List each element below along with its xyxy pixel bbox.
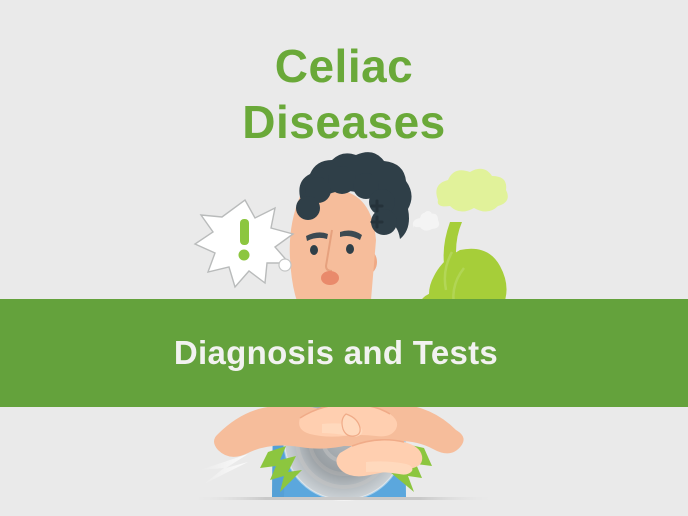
exclamation-dot [239, 250, 250, 261]
floor-shadow [188, 497, 498, 500]
eye-left [310, 245, 318, 255]
bubble-tail-dot [279, 259, 291, 271]
poster-canvas: Celiac Diseases Diagnosis and Tests [0, 0, 688, 516]
banner-label: Diagnosis and Tests [174, 334, 498, 372]
subtitle-banner: Diagnosis and Tests [0, 299, 688, 407]
eye-right [346, 244, 354, 254]
mouth [321, 271, 339, 285]
title-line-1: Celiac [0, 38, 688, 94]
page-title: Celiac Diseases [0, 38, 688, 150]
title-line-2: Diseases [0, 94, 688, 150]
exclamation-bar [240, 219, 249, 245]
